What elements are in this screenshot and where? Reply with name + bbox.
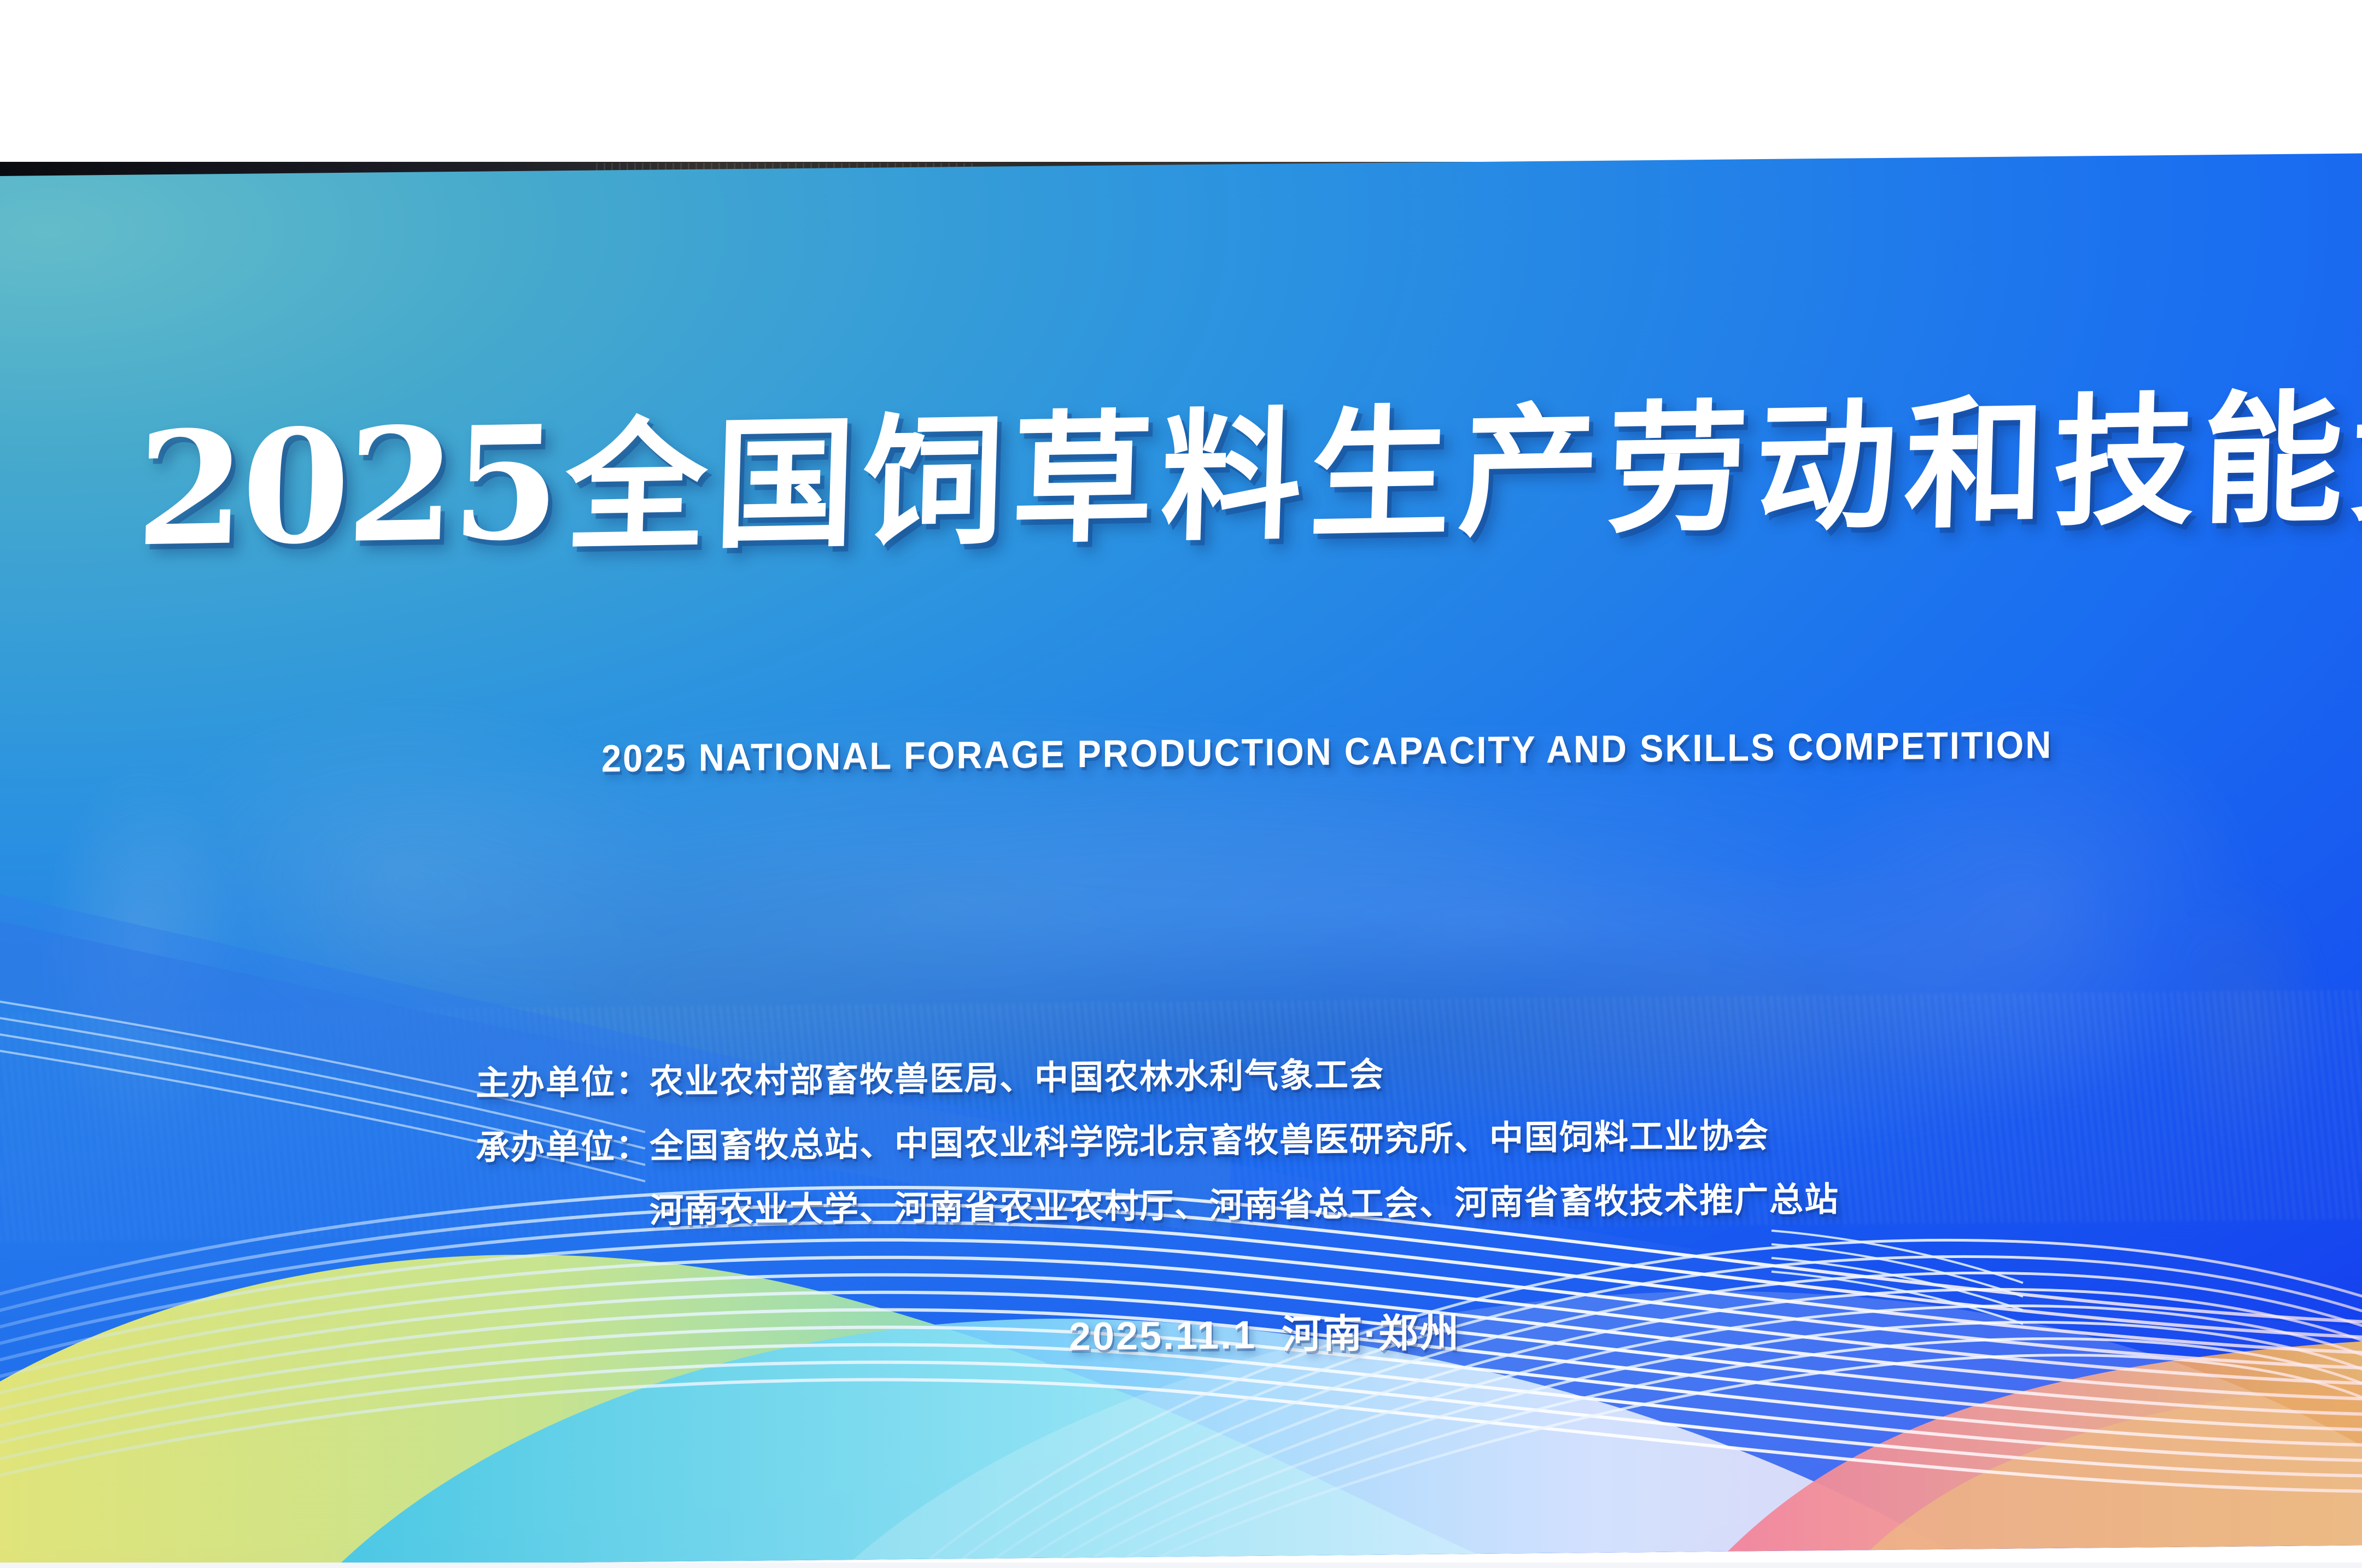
screenshot-root: 2025全国饲草料生产劳动和技能竞赛 2025 NATIONAL FORAGE … <box>0 0 2362 1568</box>
top-white-margin <box>0 0 2362 164</box>
event-backdrop-banner: 2025全国饲草料生产劳动和技能竞赛 2025 NATIONAL FORAGE … <box>0 154 2362 1568</box>
stage-front-edge <box>0 1563 2362 1568</box>
decorative-ribbon-waves <box>0 154 2362 1568</box>
